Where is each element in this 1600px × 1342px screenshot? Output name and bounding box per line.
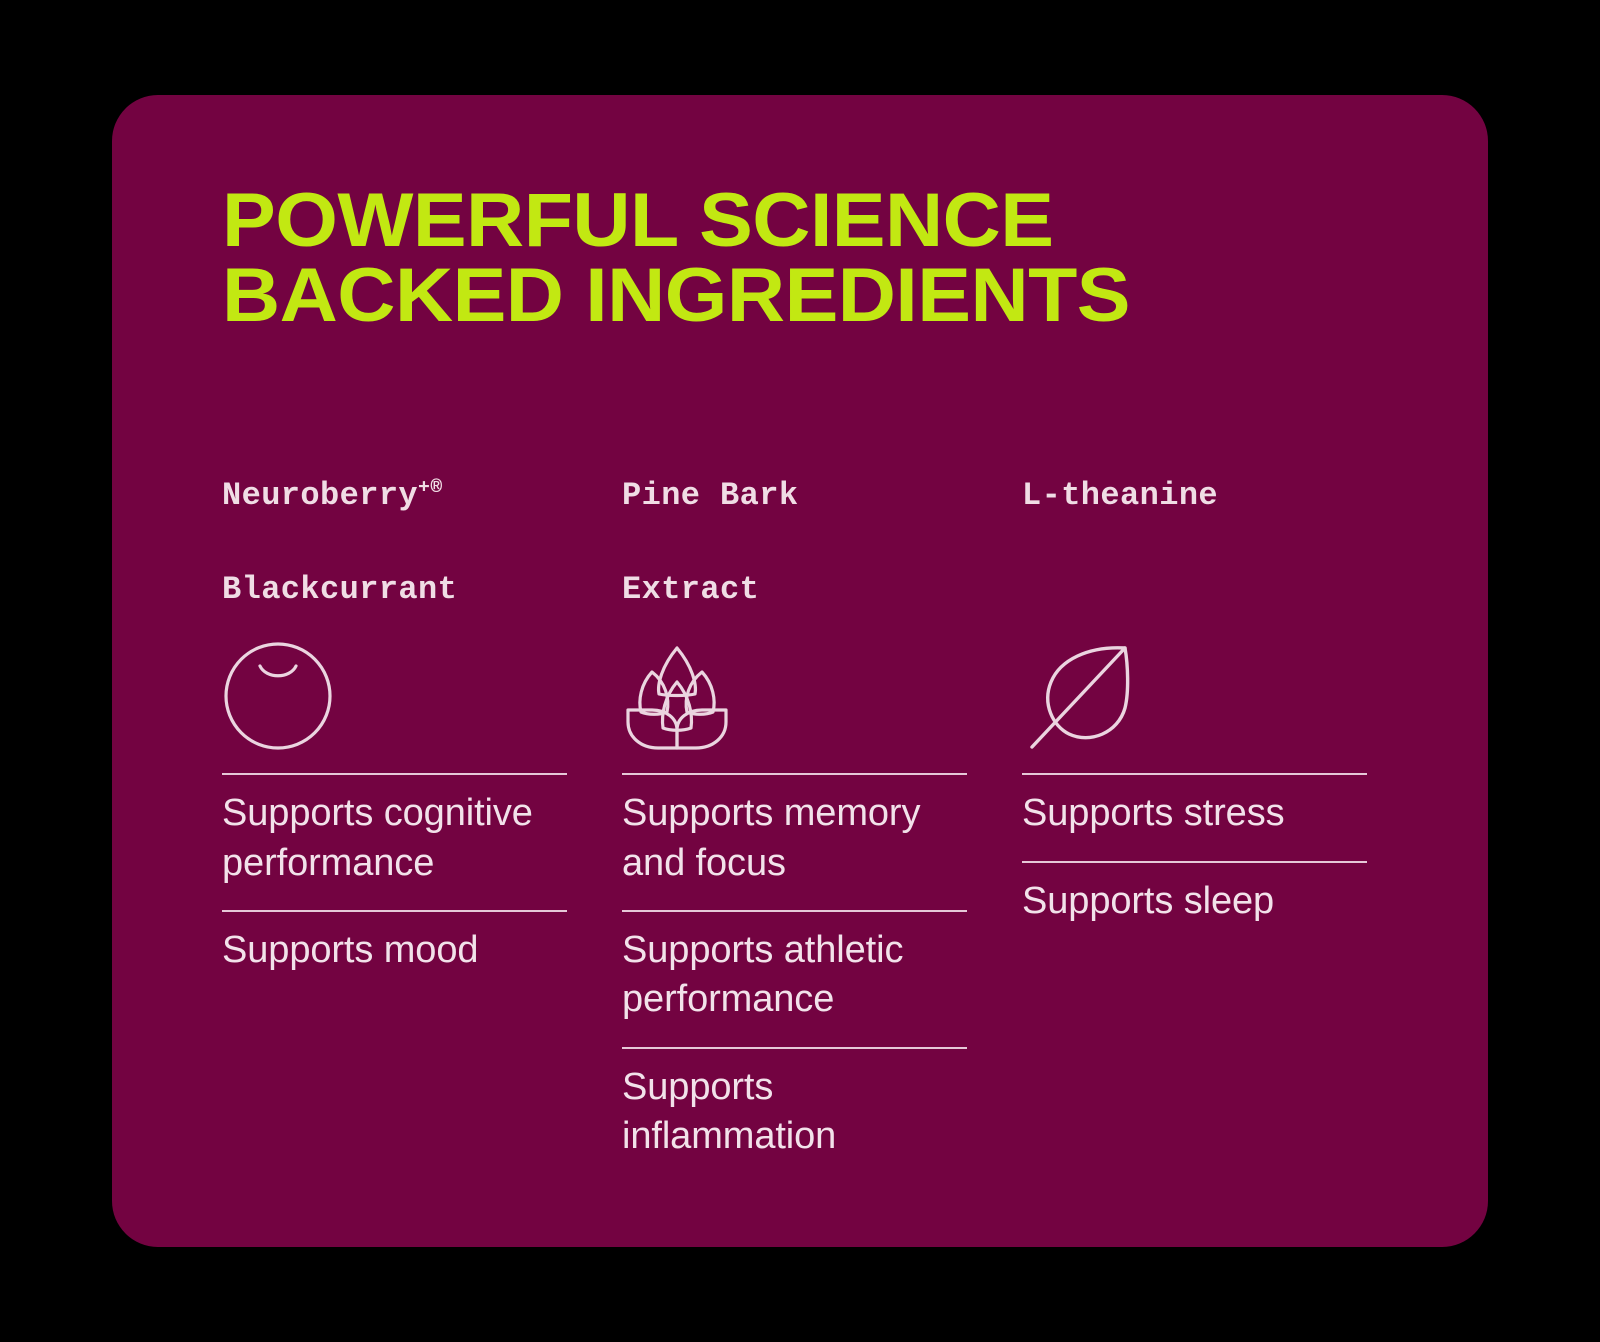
ingredient-name-line1: Neuroberry	[222, 477, 418, 514]
ingredient-name: Neuroberry+® Blackcurrant	[222, 425, 567, 613]
benefit-item: Supports athletic performance	[622, 910, 967, 1047]
ingredient-icon-container	[622, 619, 967, 769]
ingredient-columns: Neuroberry+® Blackcurrant Supports cogni…	[222, 425, 1382, 1161]
ingredient-name: Pine Bark Extract	[622, 425, 967, 613]
screenshot-root: POWERFUL SCIENCE BACKED INGREDIENTS Neur…	[0, 0, 1600, 1342]
ingredient-column-l-theanine: L-theanine Supports stress Supports slee…	[1022, 425, 1367, 1161]
benefit-item: Supports sleep	[1022, 861, 1367, 926]
ingredient-icon-container	[1022, 619, 1367, 769]
ingredients-card: POWERFUL SCIENCE BACKED INGREDIENTS Neur…	[112, 95, 1488, 1247]
ingredient-name: L-theanine	[1022, 425, 1367, 613]
ingredient-column-neuroberry-blackcurrant: Neuroberry+® Blackcurrant Supports cogni…	[222, 425, 567, 1161]
benefit-list: Supports stress Supports sleep	[1022, 773, 1367, 926]
benefit-item: Supports mood	[222, 910, 567, 975]
benefit-item: Supports inflammation	[622, 1047, 967, 1162]
benefit-item: Supports memory and focus	[622, 773, 967, 910]
trademark-mark: +®	[418, 475, 443, 498]
berry-icon	[222, 638, 334, 750]
benefit-list: Supports memory and focus Supports athle…	[622, 773, 967, 1161]
benefit-item: Supports stress	[1022, 773, 1367, 860]
ingredient-name-line1: L-theanine	[1022, 477, 1218, 514]
ingredient-name-line2: Blackcurrant	[222, 571, 457, 608]
pine-cone-icon	[622, 638, 732, 750]
ingredient-name-line2: Extract	[622, 571, 759, 608]
benefit-list: Supports cognitive performance Supports …	[222, 773, 567, 975]
ingredient-name-line1: Pine Bark	[622, 477, 798, 514]
leaf-icon	[1022, 635, 1142, 753]
benefit-item: Supports cognitive performance	[222, 773, 567, 910]
page-title: POWERFUL SCIENCE BACKED INGREDIENTS	[222, 183, 1452, 333]
ingredient-column-pine-bark-extract: Pine Bark Extract	[622, 425, 967, 1161]
ingredient-icon-container	[222, 619, 567, 769]
